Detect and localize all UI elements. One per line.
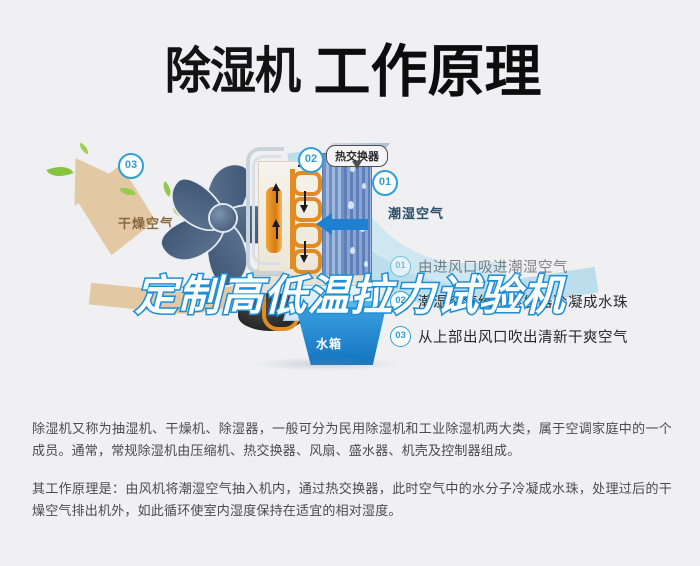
diagram-badge-03: 03 — [118, 153, 144, 179]
flow-arrow-stem — [304, 191, 306, 205]
diagram-badge-02: 02 — [298, 147, 324, 173]
diagram-badge-01: 01 — [372, 170, 398, 196]
page-title-part2: 工作原理 — [314, 26, 542, 108]
flow-arrow-up-icon — [272, 219, 280, 227]
page-title-part1: 除湿机 — [164, 31, 299, 103]
watermark-text: 定制高低温拉力试验机 — [0, 262, 700, 323]
intake-arrow-body — [330, 219, 368, 230]
humid-air-label: 潮湿空气 — [388, 203, 444, 222]
page-title: 除湿机工作原理 — [0, 26, 700, 108]
flow-arrow-stem — [276, 225, 278, 239]
water-droplet-icon — [350, 247, 355, 254]
flow-arrow-down-icon — [300, 205, 308, 213]
legend-badge: 03 — [390, 326, 411, 347]
poster-root: 除湿机工作原理 干燥空气 — [0, 0, 700, 566]
heat-exchanger-callout-pointer — [352, 161, 362, 169]
flow-arrow-stem — [304, 241, 306, 255]
paragraph-2: 其工作原理是：由风机将潮湿空气抽入机内，通过热交换器，此时空气中的水分子冷凝成水… — [32, 478, 672, 522]
dry-air-label: 干燥空气 — [118, 213, 174, 232]
list-item: 03 从上部出风口吹出清新干爽空气 — [390, 326, 690, 347]
body-copy: 除湿机又称为抽湿机、干燥机、除湿器，一般可分为民用除湿机和工业除湿机两大类，属于… — [32, 418, 672, 538]
flow-arrow-up-icon — [272, 183, 280, 191]
legend-text: 从上部出风口吹出清新干爽空气 — [418, 326, 628, 347]
ground-shadow — [250, 357, 400, 371]
condenser-coil — [292, 171, 322, 196]
fan-hub — [210, 205, 236, 231]
water-tank-label: 水箱 — [316, 335, 342, 352]
paragraph-1: 除湿机又称为抽湿机、干燥机、除湿器，一般可分为民用除湿机和工业除湿机两大类，属于… — [32, 418, 672, 462]
flow-arrow-stem — [276, 189, 278, 203]
water-droplet-icon — [362, 183, 366, 189]
water-droplet-icon — [348, 201, 354, 209]
intake-arrow-head-icon — [316, 213, 332, 235]
